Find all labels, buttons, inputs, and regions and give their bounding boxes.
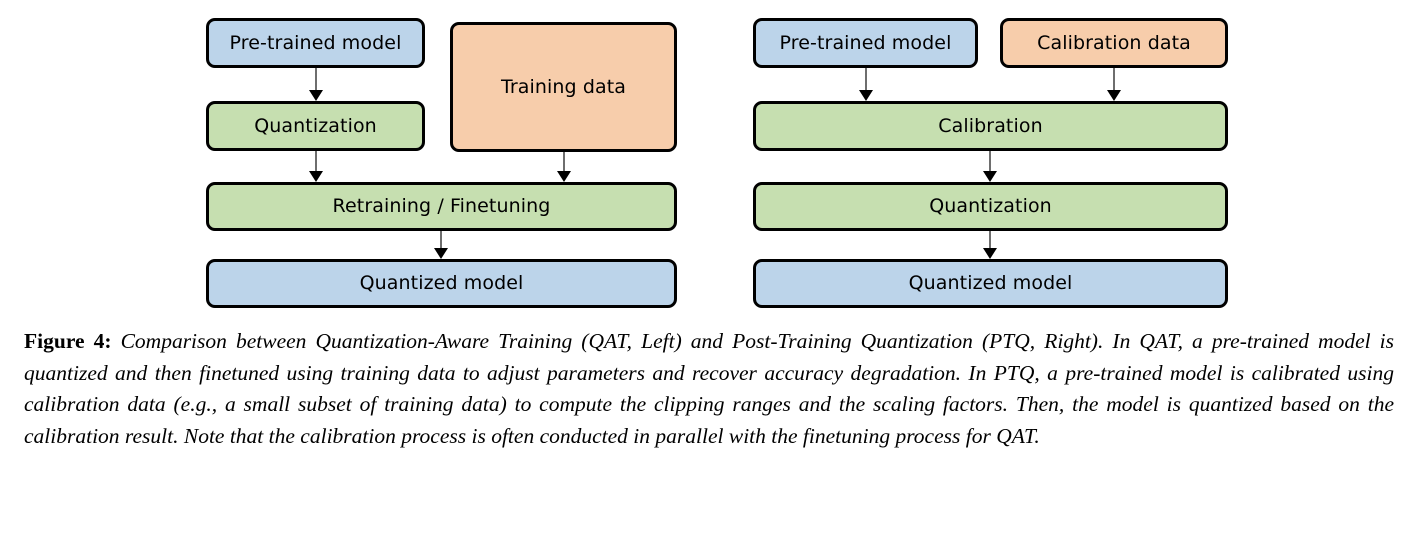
ptq-pretrained-model-label: Pre-trained model xyxy=(780,33,952,54)
arrow-head-icon xyxy=(1107,90,1121,101)
qat-quantization-label: Quantization xyxy=(254,116,377,137)
arrow-ptq-calibration-to-quantization xyxy=(982,151,998,182)
arrow-shaft xyxy=(1113,68,1115,92)
figure-container: Pre-trained model Training data Quantiza… xyxy=(0,0,1414,538)
arrow-head-icon xyxy=(309,90,323,101)
figure-number-label: Figure 4: xyxy=(24,329,112,353)
qat-training-data-node[interactable]: Training data xyxy=(450,22,677,152)
arrow-shaft xyxy=(865,68,867,92)
arrow-head-icon xyxy=(434,248,448,259)
arrow-ptq-quantization-to-quantized-model xyxy=(982,231,998,259)
arrow-qat-quantization-to-retraining xyxy=(308,151,324,182)
ptq-quantized-model-label: Quantized model xyxy=(909,273,1073,294)
arrow-head-icon xyxy=(983,171,997,182)
figure-caption-text: Comparison between Quantization-Aware Tr… xyxy=(24,329,1394,448)
ptq-quantized-model-node[interactable]: Quantized model xyxy=(753,259,1228,308)
arrow-qat-pretrained-to-quantization xyxy=(308,68,324,101)
qat-retraining-finetuning-label: Retraining / Finetuning xyxy=(333,196,551,217)
qat-pretrained-model-node[interactable]: Pre-trained model xyxy=(206,18,425,68)
arrow-head-icon xyxy=(983,248,997,259)
qat-training-data-label: Training data xyxy=(501,77,626,98)
ptq-calibration-node[interactable]: Calibration xyxy=(753,101,1228,151)
arrow-shaft xyxy=(989,151,991,173)
arrow-qat-trainingdata-to-retraining xyxy=(556,152,572,182)
arrow-head-icon xyxy=(859,90,873,101)
ptq-calibration-data-label: Calibration data xyxy=(1037,33,1191,54)
qat-quantization-node[interactable]: Quantization xyxy=(206,101,425,151)
arrow-ptq-pretrained-to-calibration xyxy=(858,68,874,101)
ptq-pretrained-model-node[interactable]: Pre-trained model xyxy=(753,18,978,68)
qat-pretrained-model-label: Pre-trained model xyxy=(230,33,402,54)
arrow-qat-retraining-to-quantized-model xyxy=(433,231,449,259)
flowchart-diagram: Pre-trained model Training data Quantiza… xyxy=(0,0,1414,320)
ptq-calibration-data-node[interactable]: Calibration data xyxy=(1000,18,1228,68)
arrow-shaft xyxy=(315,68,317,92)
qat-quantized-model-node[interactable]: Quantized model xyxy=(206,259,677,308)
ptq-calibration-label: Calibration xyxy=(938,116,1042,137)
arrow-head-icon xyxy=(309,171,323,182)
arrow-shaft xyxy=(315,151,317,173)
arrow-ptq-calibrationdata-to-calibration xyxy=(1106,68,1122,101)
qat-quantized-model-label: Quantized model xyxy=(360,273,524,294)
ptq-quantization-label: Quantization xyxy=(929,196,1052,217)
arrow-head-icon xyxy=(557,171,571,182)
arrow-shaft xyxy=(563,152,565,173)
figure-caption: Figure 4: Comparison between Quantizatio… xyxy=(24,326,1394,452)
ptq-quantization-node[interactable]: Quantization xyxy=(753,182,1228,231)
qat-retraining-finetuning-node[interactable]: Retraining / Finetuning xyxy=(206,182,677,231)
